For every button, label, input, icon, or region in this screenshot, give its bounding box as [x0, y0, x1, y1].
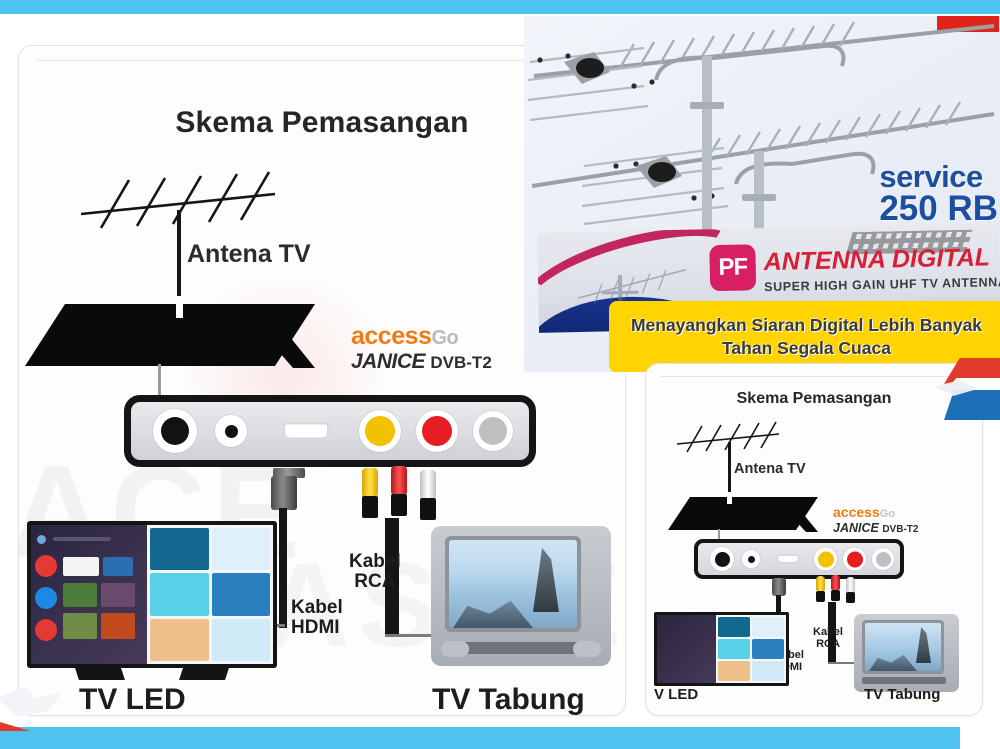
small-antenna-label: Antena TV	[734, 461, 806, 477]
small-cable-rca-label-line2: RCA	[813, 639, 843, 651]
screenshot-root: ACE BASKET Skema Pemasangan Antena TV ac…	[0, 0, 1000, 749]
small-rca-plug-yellow	[816, 576, 825, 602]
small-antenna-mast	[728, 442, 731, 498]
small-antenna-loop-out-port[interactable]	[742, 550, 760, 568]
tv-crt-bezel	[445, 536, 581, 632]
hdmi-cable	[279, 508, 287, 628]
small-brand-standard: DVB-T2	[882, 524, 918, 535]
small-tv-led-home-pane	[657, 615, 716, 683]
service-price-line2: 250 RB	[879, 192, 998, 226]
product-title: ANTENNA DIGITAL	[763, 243, 990, 277]
tv-led-label: TV LED	[79, 683, 186, 716]
decor-band-bottom	[0, 727, 1000, 749]
rca-plug-red	[391, 466, 407, 516]
cable-hdmi-label-line1: Kabel	[291, 598, 343, 618]
product-subtitle: SUPER HIGH GAIN UHF TV ANTENNA	[764, 275, 1000, 294]
cable-hdmi-label-line2: HDMI	[291, 618, 343, 638]
rca-video-port[interactable]	[359, 410, 401, 452]
small-tv-crt-label: TV Tabung	[864, 686, 940, 703]
promo-caption-line2: Tahan Segala Cuaca	[631, 337, 982, 360]
brand-standard: DVB-T2	[430, 353, 491, 372]
cable-rca-label-line1: Kabel	[349, 552, 401, 572]
cable-rca-label: Kabel RCA	[349, 552, 401, 592]
card-divider	[37, 60, 607, 61]
small-rca-plug-red	[831, 575, 840, 601]
tv-led-home-pane	[31, 525, 147, 664]
tv-crt-screen	[449, 540, 577, 628]
small-tv-crt	[854, 614, 959, 692]
small-rca-plug-white	[846, 577, 855, 603]
decor-band-top	[0, 0, 1000, 14]
small-card-divider	[660, 376, 968, 377]
decor-band-bottom-gap	[960, 727, 1000, 749]
rca-plug-white	[420, 470, 436, 520]
small-rca-video-port[interactable]	[814, 548, 837, 571]
brand-logo: accessGo JANICE DVB-T2	[351, 324, 492, 372]
cable-rca-label-line2: RCA	[349, 572, 401, 592]
tv-crt-label: TV Tabung	[432, 683, 585, 716]
small-roof-mast-notch	[727, 492, 732, 504]
brand-model: JANICE	[351, 350, 425, 373]
tv-led-app-grid	[147, 525, 273, 664]
small-set-top-box	[694, 539, 904, 579]
roof-shape	[25, 296, 315, 368]
antenna-loop-out-port[interactable]	[215, 415, 247, 447]
tv-led	[27, 521, 277, 668]
antenna-in-port[interactable]	[153, 409, 197, 453]
small-rca-audio-left-port[interactable]	[872, 548, 894, 570]
antenna-label: Antena TV	[187, 240, 311, 269]
small-diagram-title: Skema Pemasangan	[646, 390, 982, 408]
hdmi-plug	[271, 476, 297, 510]
small-hdmi-port[interactable]	[776, 554, 800, 564]
small-antenna-in-port[interactable]	[710, 547, 734, 571]
tv-led-stand-left	[75, 668, 125, 680]
tv-crt-speaker-right	[573, 641, 601, 657]
tv-crt	[431, 526, 611, 666]
pf-brand-badge: PF	[709, 244, 756, 291]
set-top-box	[124, 395, 536, 467]
rca-audio-right-port[interactable]	[416, 410, 458, 452]
small-brand-model: JANICE	[833, 521, 879, 535]
small-hdmi-plug	[772, 578, 786, 596]
brand-name: access	[351, 322, 431, 350]
cable-hdmi-label: Kabel HDMI	[291, 598, 343, 638]
small-tv-led	[654, 612, 789, 686]
tv-crt-speaker-left	[441, 641, 469, 657]
small-roof-shape	[668, 492, 818, 532]
small-brand-name: access	[833, 504, 880, 520]
hdmi-port[interactable]	[283, 423, 329, 440]
small-brand-logo: accessGo JANICE DVB-T2	[833, 505, 918, 535]
small-diagram-card: Skema Pemasangan Antena TV accessGo JANI…	[645, 363, 983, 716]
antenna-photo-inset: service 250 RB PF ANTENNA DIGITAL SUPER …	[524, 16, 1000, 372]
roof-mast-notch	[176, 296, 183, 318]
brand-name-suffix: Go	[431, 327, 458, 349]
tv-led-screen	[31, 525, 273, 664]
rca-cable-bend	[385, 634, 437, 637]
rca-audio-left-port[interactable]	[473, 411, 513, 451]
decor-ribbon-right	[940, 352, 1000, 426]
tv-led-stand-right	[179, 668, 229, 680]
decor-ribbon-bottom-left	[0, 685, 66, 735]
small-tv-led-app-grid	[716, 615, 786, 683]
service-price-line1: service	[879, 162, 998, 192]
small-brand-name-suffix: Go	[880, 508, 895, 520]
small-rca-audio-right-port[interactable]	[843, 548, 866, 571]
service-price: service 250 RB	[879, 162, 998, 225]
promo-caption-line1: Menayangkan Siaran Digital Lebih Banyak	[631, 314, 982, 337]
rca-plug-yellow	[362, 468, 378, 518]
small-tv-led-label: V LED	[654, 686, 698, 703]
small-cable-rca-label-line1: Kabel	[813, 627, 843, 639]
small-cable-rca-label: Kabel RCA	[813, 627, 843, 650]
